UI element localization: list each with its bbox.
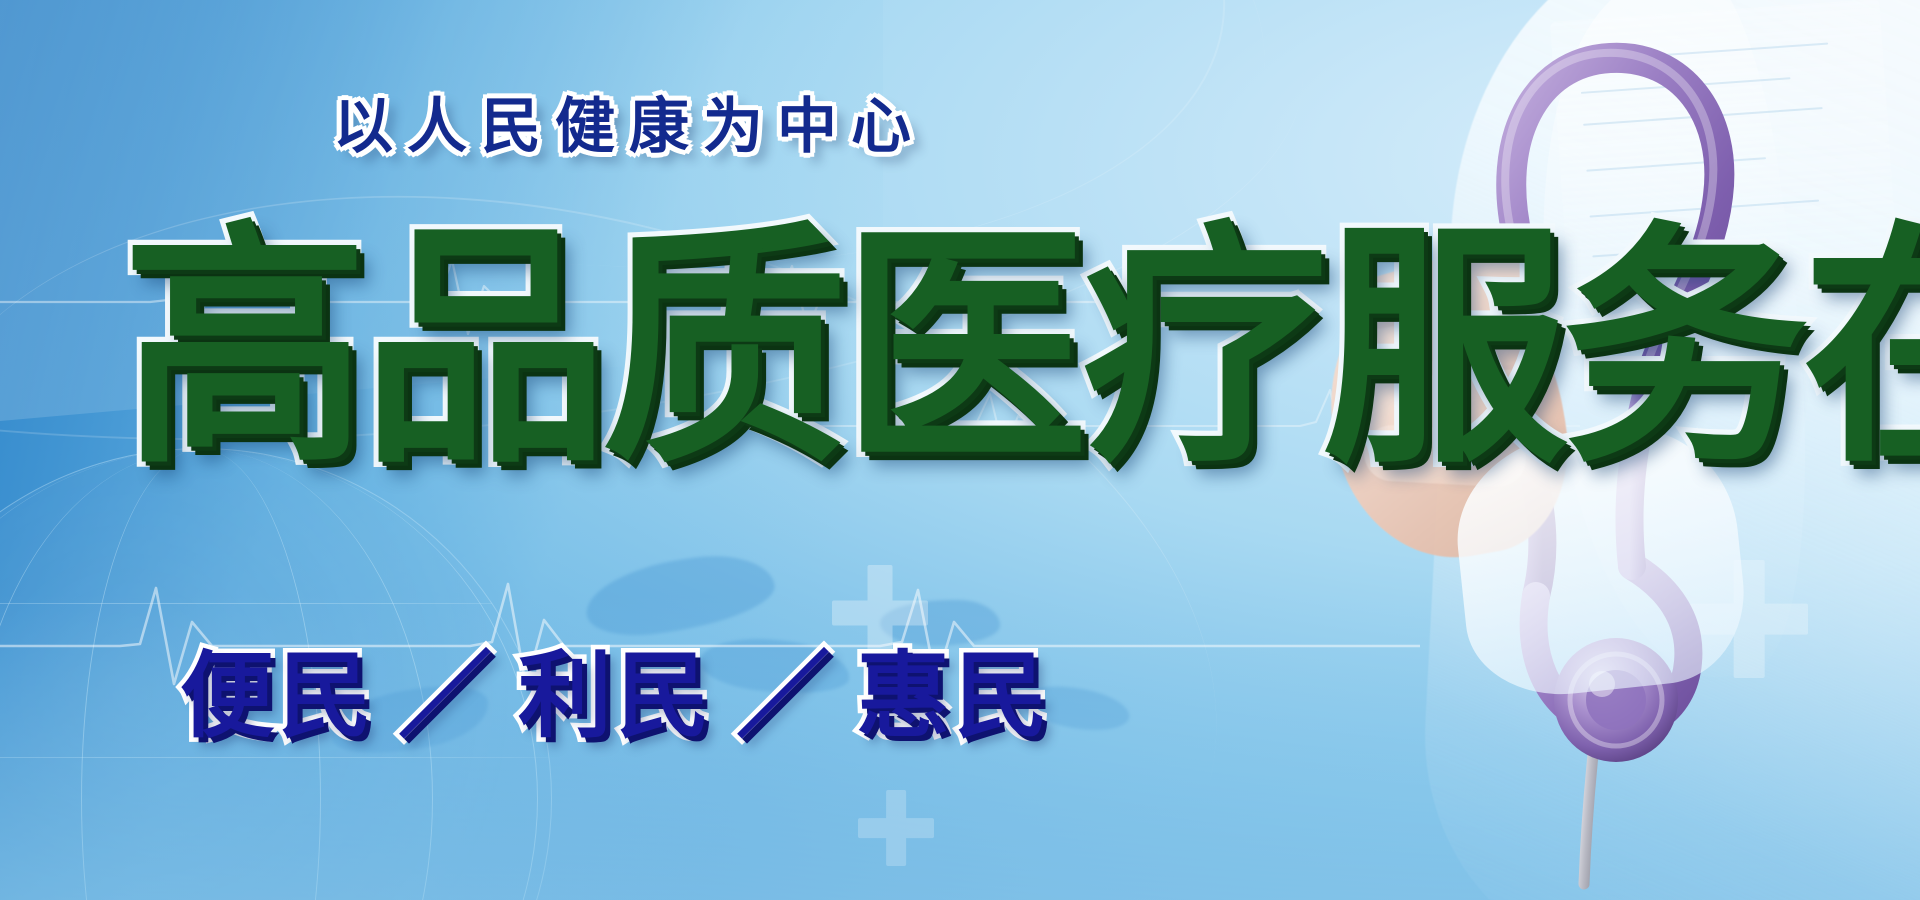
slogan-separator: ／ [376,642,518,751]
slogan-item-2: 利民 [518,642,714,751]
medical-cross-icon [858,790,934,866]
slogan-separator: ／ [714,642,856,751]
slogan-item-1: 便民 [180,642,376,751]
banner-tagline: 以人民健康为中心 [333,97,925,157]
cross-bar-vertical [886,790,906,866]
slogan-item-3: 惠民 [856,642,1052,751]
healthcare-banner: 以人民健康为中心 高品质医疗服务在基层 便民／利民／惠民 [0,0,1920,900]
banner-headline: 高品质医疗服务在基层 [122,222,1920,478]
banner-slogan: 便民／利民／惠民 [180,650,1052,744]
